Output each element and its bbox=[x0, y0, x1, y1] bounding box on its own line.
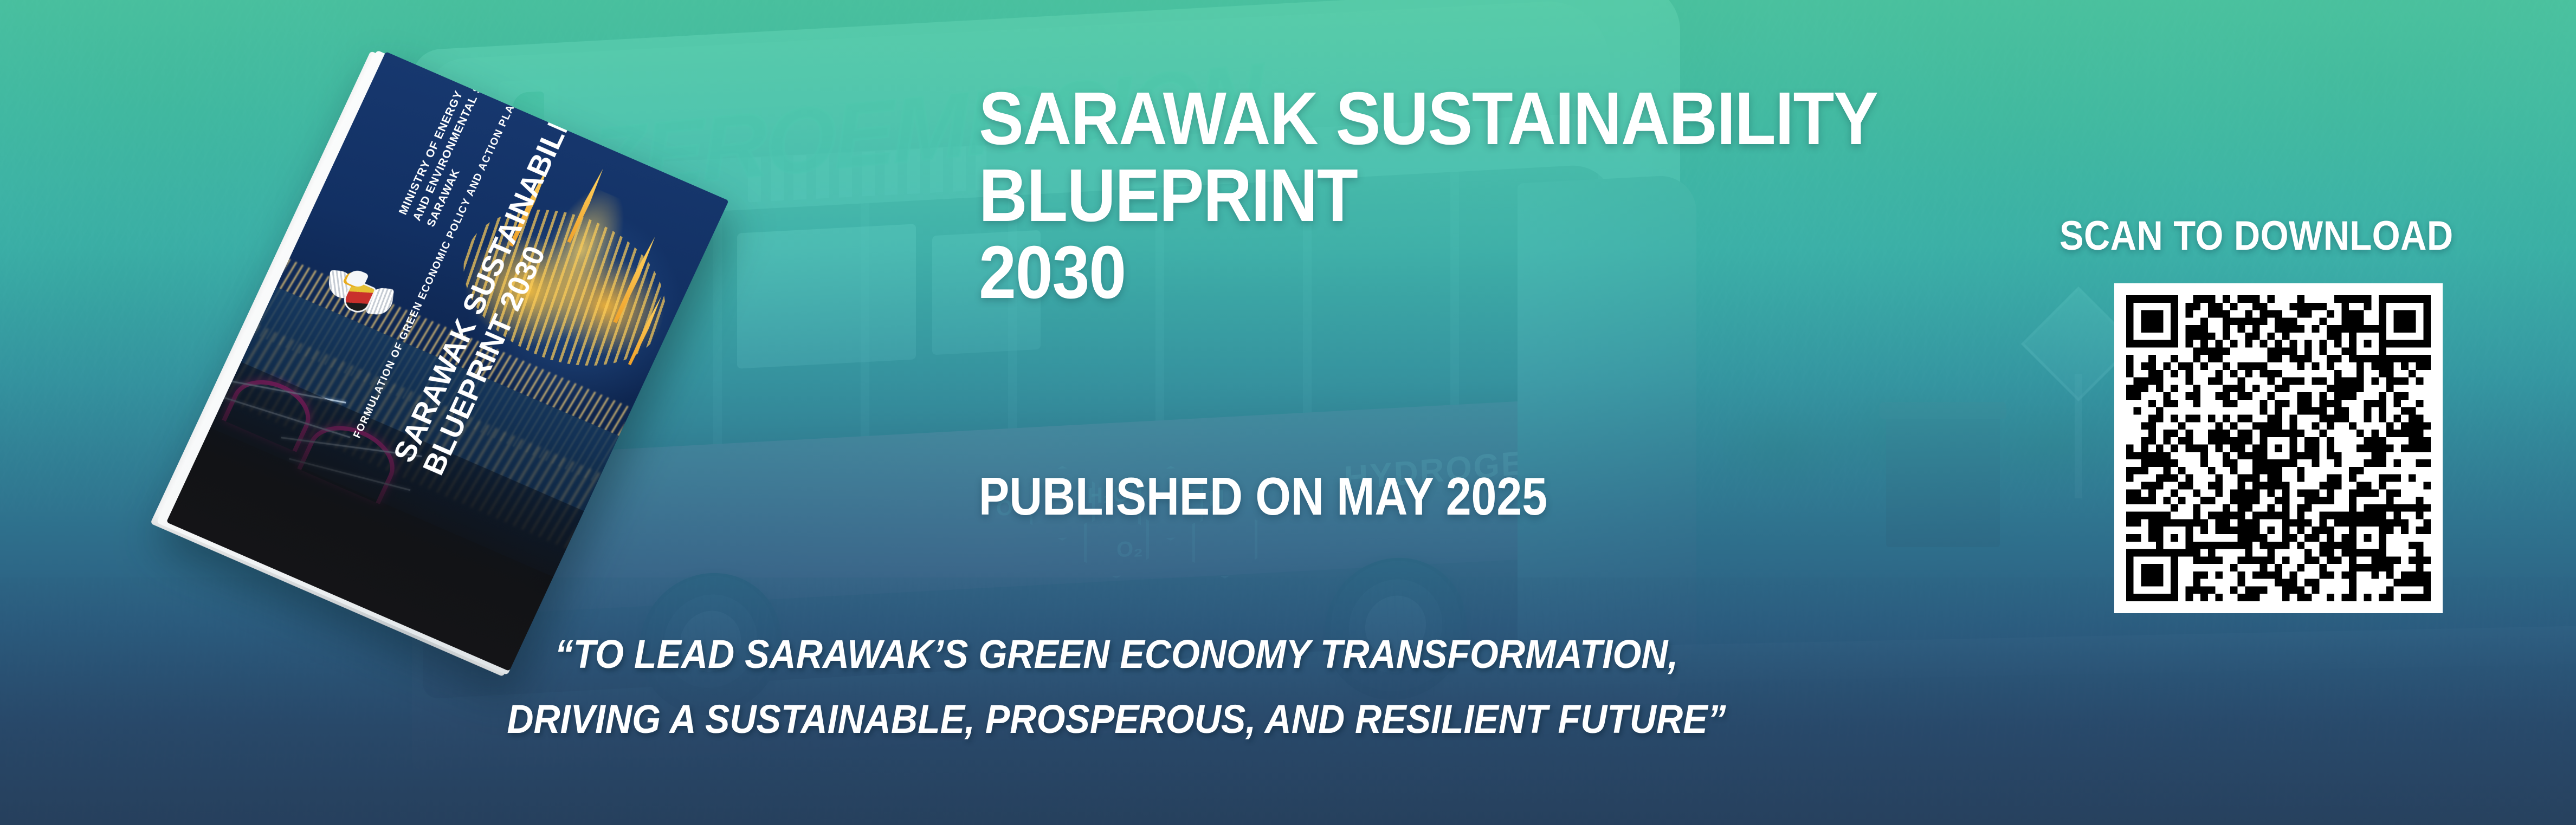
headline-line-2: 2030 bbox=[979, 231, 1126, 314]
page-title: SARAWAK SUSTAINABILITY BLUEPRINT 2030 bbox=[979, 80, 1954, 311]
scan-to-download-label: SCAN TO DOWNLOAD bbox=[2059, 212, 2454, 259]
book-front-cover: MINISTRY OF ENERGYAND ENVIRONMENTAL SUST… bbox=[166, 51, 729, 671]
sarawak-sustainability-blueprint-banner: ZEROEMISSION O H₂O O₂ H HYDROGEN BUS bbox=[0, 0, 2576, 825]
qr-code-canvas[interactable] bbox=[2126, 295, 2431, 601]
book-3d: MINISTRY OF ENERGYAND ENVIRONMENTAL SUST… bbox=[166, 51, 734, 674]
qr-code[interactable] bbox=[2114, 283, 2443, 613]
headline-line-1: SARAWAK SUSTAINABILITY BLUEPRINT bbox=[979, 77, 1876, 237]
publication-date: PUBLISHED ON MAY 2025 bbox=[979, 466, 1547, 527]
book-mockup: MINISTRY OF ENERGYAND ENVIRONMENTAL SUST… bbox=[98, 65, 867, 607]
vision-tagline: “TO LEAD SARAWAK’S GREEN ECONOMY TRANSFO… bbox=[478, 622, 1754, 752]
